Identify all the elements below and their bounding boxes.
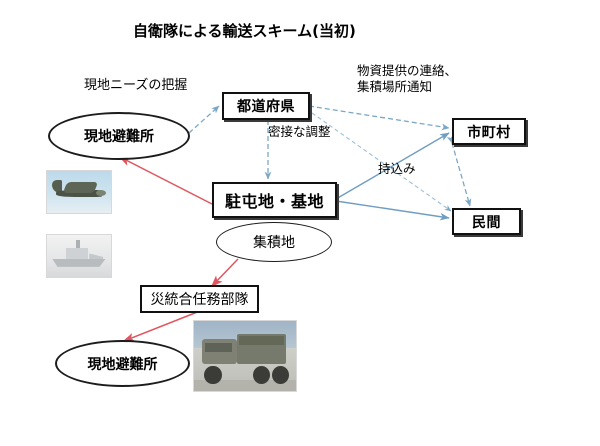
node-shelter-bottom[interactable]: 現地避難所 xyxy=(55,340,190,387)
edge-base-to-shelter-top xyxy=(120,157,212,204)
military-truck-photo xyxy=(193,320,297,392)
edge-municipality-private xyxy=(452,143,470,206)
node-municipality[interactable]: 市町村 xyxy=(452,118,526,145)
aircraft-wing xyxy=(63,182,98,193)
node-stockpile-label: 集積地 xyxy=(253,232,295,252)
page-title: 自衛隊による輸送スキーム(当初) xyxy=(133,20,356,41)
truck-cargo-cover xyxy=(239,336,284,344)
node-shelter-bottom-label: 現地避難所 xyxy=(88,354,158,374)
edge-stockpile-to-jtf xyxy=(212,259,238,286)
edge-base-private xyxy=(336,201,449,218)
node-private-label: 民間 xyxy=(472,212,501,232)
node-private[interactable]: 民間 xyxy=(452,208,521,235)
node-stockpile[interactable]: 集積地 xyxy=(216,222,332,262)
aircraft-nose xyxy=(96,190,106,196)
truck-wheel xyxy=(204,366,221,384)
vessel-superstructure xyxy=(66,248,88,260)
diagram-canvas: 自衛隊による輸送スキーム(当初) prefecture (dashed, dou… xyxy=(0,0,600,446)
vessel-bow xyxy=(89,253,103,259)
node-jtf-label: 災統合任務部隊 xyxy=(151,289,249,309)
node-base-label: 駐屯地・基地 xyxy=(225,188,324,212)
transport-aircraft-photo xyxy=(46,170,112,214)
node-shelter-top-label: 現地避難所 xyxy=(84,126,154,146)
node-base[interactable]: 駐屯地・基地 xyxy=(212,182,337,218)
node-prefecture[interactable]: 都道府県 xyxy=(222,92,310,120)
naval-vessel-photo xyxy=(46,234,112,278)
truck-windshield xyxy=(205,343,232,353)
node-prefecture-label: 都道府県 xyxy=(237,96,295,116)
node-shelter-top[interactable]: 現地避難所 xyxy=(48,112,190,160)
vessel-hull xyxy=(52,259,106,267)
edge-shelter-prefecture xyxy=(189,106,219,133)
truck-wheel xyxy=(272,366,289,384)
edge-label-close-coordination: 密接な調整 xyxy=(268,124,331,140)
edge-label-supply-notice: 物資提供の連絡、 集積場所通知 xyxy=(357,63,457,94)
edge-label-bring-in: 持込み xyxy=(378,161,416,177)
node-municipality-label: 市町村 xyxy=(467,122,511,142)
node-jtf[interactable]: 災統合任務部隊 xyxy=(140,285,259,313)
edge-label-needs: 現地ニーズの把握 xyxy=(84,78,187,94)
